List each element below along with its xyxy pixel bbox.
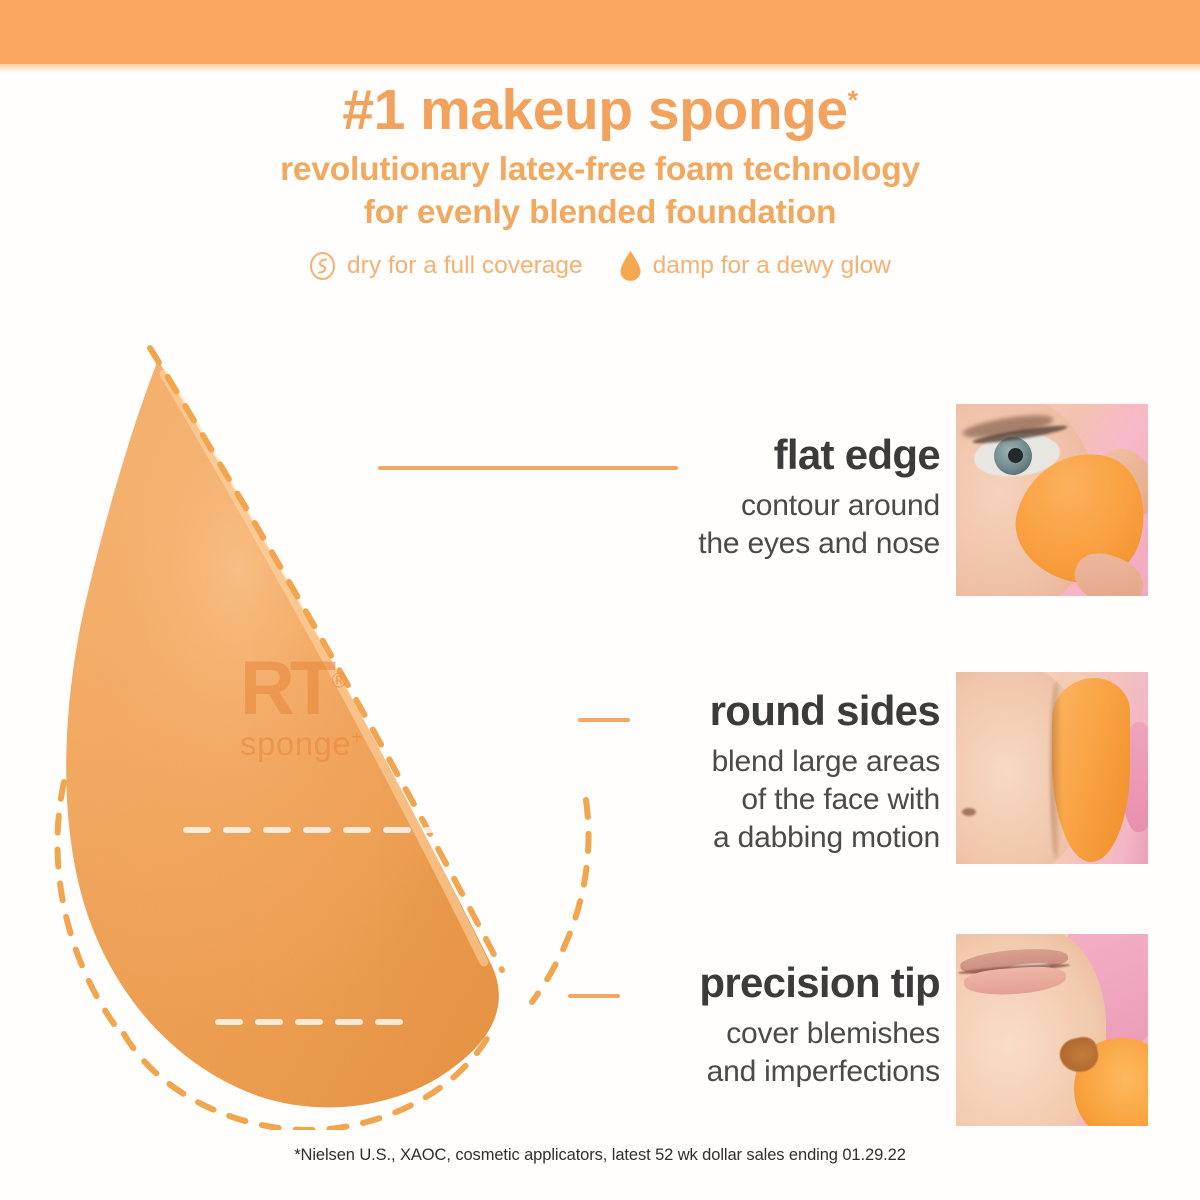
- page-title: #1 makeup sponge*: [0, 80, 1200, 140]
- dry-sponge-icon: [309, 251, 336, 281]
- photo-beauty-mark: [962, 808, 976, 816]
- feature-precision-tip-title: precision tip: [545, 962, 940, 1004]
- subheadline-line-2: for evenly blended foundation: [0, 192, 1200, 235]
- feature-flat-edge-desc: contour around the eyes and nose: [545, 487, 940, 563]
- photo-precision-tip: [956, 934, 1148, 1126]
- subheadline: revolutionary latex-free foam technology…: [0, 149, 1200, 234]
- subheadline-line-1: revolutionary latex-free foam technology: [0, 149, 1200, 192]
- photo-flat-edge: [956, 404, 1148, 596]
- headline-text: #1 makeup sponge: [342, 78, 847, 142]
- feature-round-sides-desc-line-3: a dabbing motion: [545, 819, 940, 857]
- water-drop-icon: [619, 250, 642, 282]
- logo-sponge-word: sponge+: [240, 725, 430, 763]
- infographic-page: #1 makeup sponge* revolutionary latex-fr…: [0, 0, 1200, 1200]
- feature-precision-tip-desc-line-1: cover blemishes: [545, 1015, 940, 1053]
- product-sponge-illustration: RT® sponge+: [40, 330, 620, 1130]
- usage-mode-dry: dry for a full coverage: [309, 251, 583, 281]
- usage-mode-dry-label: dry for a full coverage: [347, 254, 583, 279]
- feature-flat-edge-desc-line-1: contour around: [545, 487, 940, 525]
- feature-precision-tip-desc: cover blemishes and imperfections: [545, 1015, 940, 1091]
- photo-sponge-edge-shadow: [1050, 682, 1062, 858]
- feature-round-sides-title: round sides: [545, 690, 940, 732]
- feature-round-sides-desc-line-2: of the face with: [545, 781, 940, 819]
- top-orange-banner: [0, 0, 1200, 64]
- usage-mode-damp-label: damp for a dewy glow: [653, 254, 891, 279]
- feature-flat-edge-desc-line-2: the eyes and nose: [545, 525, 940, 563]
- photo-round-sides: [956, 672, 1148, 864]
- usage-mode-damp: damp for a dewy glow: [619, 250, 891, 282]
- header-block: #1 makeup sponge* revolutionary latex-fr…: [0, 80, 1200, 282]
- feature-flat-edge-title: flat edge: [545, 434, 940, 476]
- feature-precision-tip-desc-line-2: and imperfections: [545, 1053, 940, 1091]
- photo-pupil: [1008, 448, 1023, 463]
- banner-fade: [0, 64, 1200, 73]
- usage-modes-row: dry for a full coverage damp for a dewy …: [0, 250, 1200, 282]
- feature-flat-edge: flat edge contour around the eyes and no…: [545, 434, 940, 563]
- feature-precision-tip: precision tip cover blemishes and imperf…: [545, 962, 940, 1091]
- logo-rt-mark: RT®: [240, 655, 347, 723]
- photo-sponge: [1052, 678, 1130, 862]
- logo-rt-text: RT: [240, 646, 331, 731]
- registered-trademark-icon: ®: [331, 670, 346, 693]
- product-logo: RT® sponge+: [240, 655, 430, 763]
- feature-round-sides: round sides blend large areas of the fac…: [545, 690, 940, 856]
- feature-round-sides-desc: blend large areas of the face with a dab…: [545, 743, 940, 856]
- footnote: *Nielsen U.S., XAOC, cosmetic applicator…: [0, 1146, 1200, 1165]
- headline-asterisk: *: [848, 85, 858, 115]
- feature-round-sides-desc-line-1: blend large areas: [545, 743, 940, 781]
- logo-plus-icon: +: [351, 727, 363, 748]
